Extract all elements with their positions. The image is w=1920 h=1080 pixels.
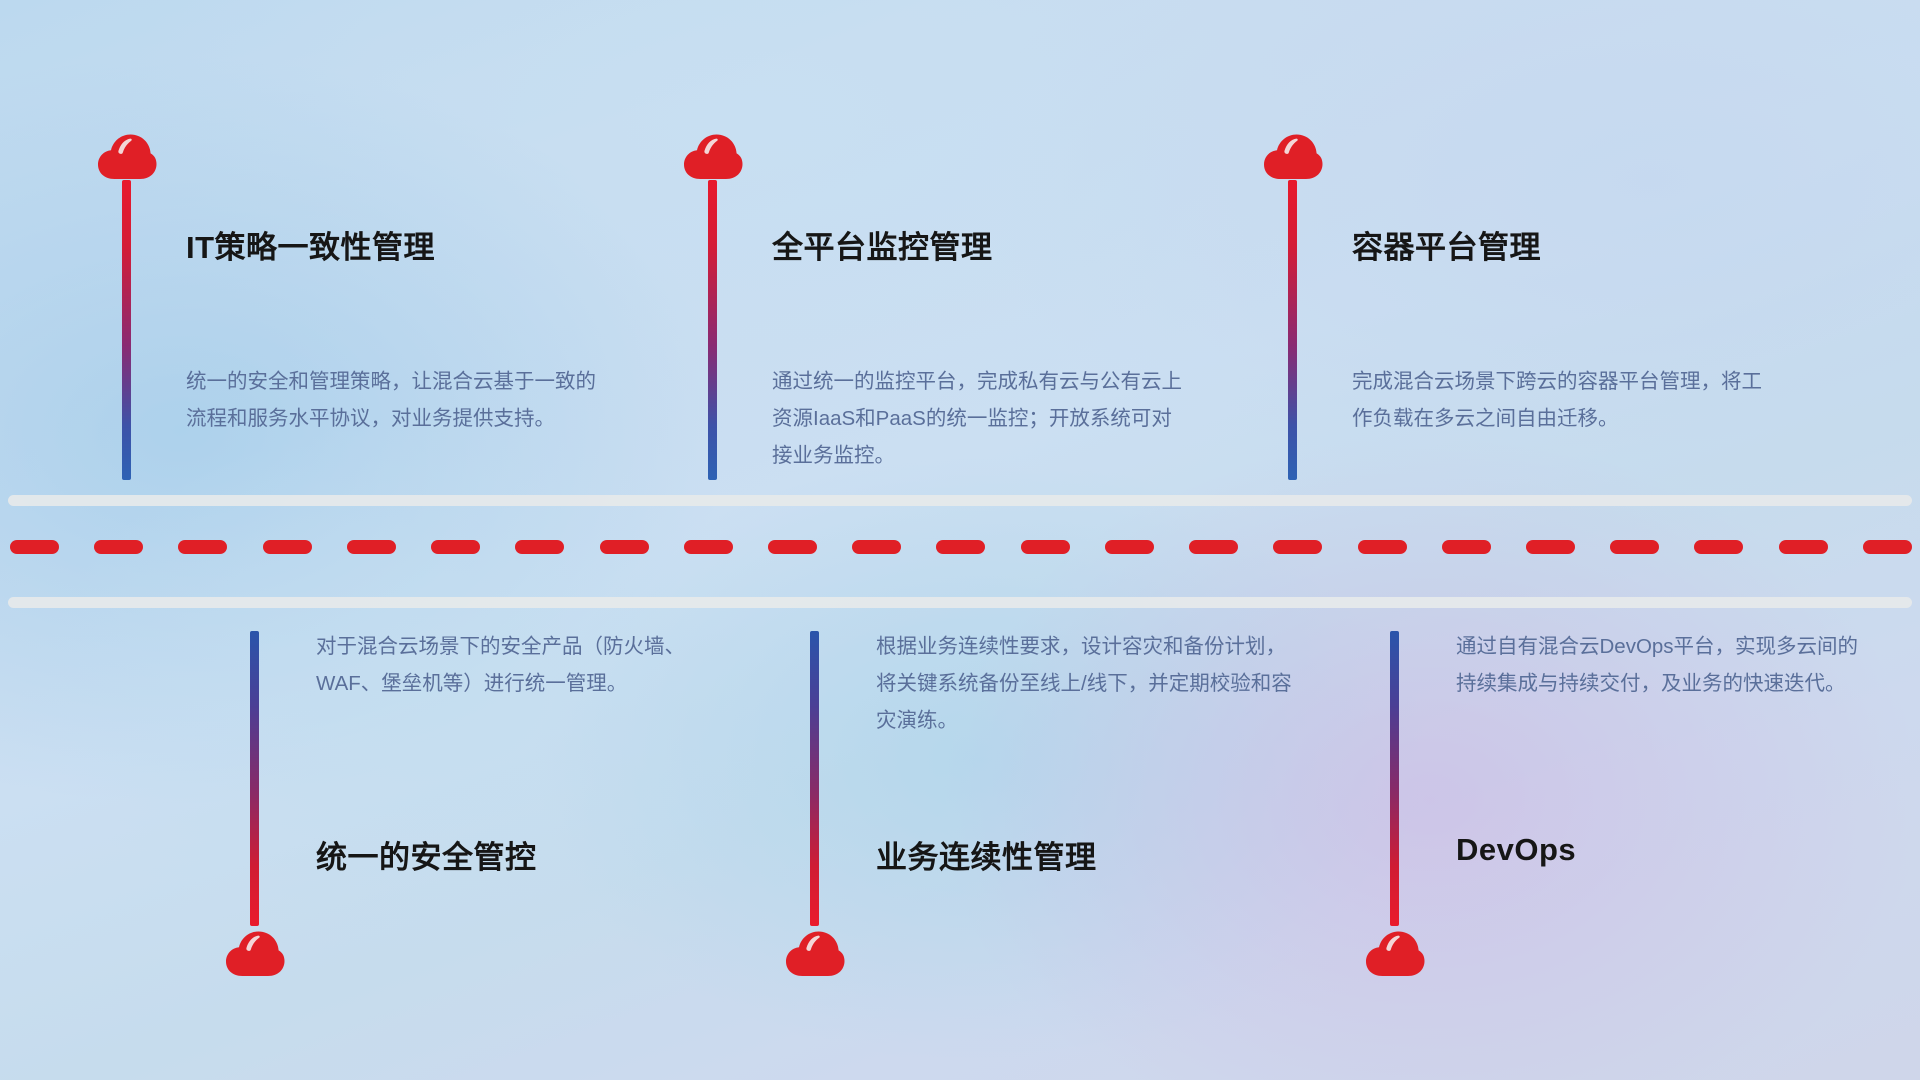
cloud-icon <box>224 930 286 978</box>
connector-line <box>708 180 717 480</box>
bottom-item-1-body: 对于混合云场景下的安全产品（防火墙、WAF、堡垒机等）进行统一管理。 <box>316 628 736 702</box>
top-row: IT策略一致性管理 统一的安全和管理策略，让混合云基于一致的流程和服务水平协议，… <box>0 0 1920 500</box>
dash-segment <box>1442 540 1491 554</box>
connector-line <box>1288 180 1297 480</box>
dash-segment <box>263 540 312 554</box>
dash-segment <box>1273 540 1322 554</box>
top-item-2-title: 全平台监控管理 <box>772 222 993 267</box>
top-item-3: 容器平台管理 完成混合云场景下跨云的容器平台管理，将工作负载在多云之间自由迁移。 <box>1262 0 1822 500</box>
dash-segment <box>684 540 733 554</box>
dash-segment <box>94 540 143 554</box>
dash-segment <box>1526 540 1575 554</box>
connector-line <box>122 180 131 480</box>
dash-segment <box>1189 540 1238 554</box>
connector-line <box>1390 631 1399 926</box>
dash-segment <box>1358 540 1407 554</box>
cloud-icon <box>96 133 158 181</box>
top-item-1-title: IT策略一致性管理 <box>186 222 435 267</box>
top-item-3-title: 容器平台管理 <box>1352 222 1541 267</box>
cloud-icon <box>1364 930 1426 978</box>
dash-segment <box>1610 540 1659 554</box>
bottom-item-1: 对于混合云场景下的安全产品（防火墙、WAF、堡垒机等）进行统一管理。 统一的安全… <box>250 600 810 1080</box>
dash-segment <box>1779 540 1828 554</box>
dash-segment <box>1021 540 1070 554</box>
dash-segment <box>1863 540 1912 554</box>
bottom-item-3: 通过自有混合云DevOps平台，实现多云间的持续集成与持续交付，及业务的快速迭代… <box>1390 600 1920 1080</box>
top-item-3-body: 完成混合云场景下跨云的容器平台管理，将工作负载在多云之间自由迁移。 <box>1352 363 1772 437</box>
dash-segment <box>431 540 480 554</box>
bottom-item-3-body: 通过自有混合云DevOps平台，实现多云间的持续集成与持续交付，及业务的快速迭代… <box>1456 628 1876 702</box>
dash-segment <box>1105 540 1154 554</box>
dash-segment <box>600 540 649 554</box>
dash-segment <box>178 540 227 554</box>
dash-segment <box>347 540 396 554</box>
divider-rail-top <box>8 495 1912 506</box>
dash-segment <box>515 540 564 554</box>
bottom-item-3-title: DevOps <box>1456 832 1576 868</box>
infographic-canvas: IT策略一致性管理 统一的安全和管理策略，让混合云基于一致的流程和服务水平协议，… <box>0 0 1920 1080</box>
dash-segment <box>1694 540 1743 554</box>
top-item-1-body: 统一的安全和管理策略，让混合云基于一致的流程和服务水平协议，对业务提供支持。 <box>186 363 606 437</box>
bottom-item-1-title: 统一的安全管控 <box>316 832 537 877</box>
top-item-2: 全平台监控管理 通过统一的监控平台，完成私有云与公有云上资源IaaS和PaaS的… <box>682 0 1242 500</box>
dash-segment <box>10 540 59 554</box>
top-item-1: IT策略一致性管理 统一的安全和管理策略，让混合云基于一致的流程和服务水平协议，… <box>96 0 656 500</box>
connector-line <box>810 631 819 926</box>
cloud-icon <box>682 133 744 181</box>
dash-segment <box>852 540 901 554</box>
dash-segment <box>936 540 985 554</box>
top-item-2-body: 通过统一的监控平台，完成私有云与公有云上资源IaaS和PaaS的统一监控；开放系… <box>772 363 1192 474</box>
bottom-row: 对于混合云场景下的安全产品（防火墙、WAF、堡垒机等）进行统一管理。 统一的安全… <box>0 600 1920 1080</box>
bottom-item-2: 根据业务连续性要求，设计容灾和备份计划，将关键系统备份至线上/线下，并定期校验和… <box>810 600 1370 1080</box>
cloud-icon <box>784 930 846 978</box>
dash-segment <box>768 540 817 554</box>
connector-line <box>250 631 259 926</box>
bottom-item-2-title: 业务连续性管理 <box>876 832 1097 877</box>
bottom-item-2-body: 根据业务连续性要求，设计容灾和备份计划，将关键系统备份至线上/线下，并定期校验和… <box>876 628 1296 739</box>
divider-dashed-line <box>10 540 1912 554</box>
cloud-icon <box>1262 133 1324 181</box>
